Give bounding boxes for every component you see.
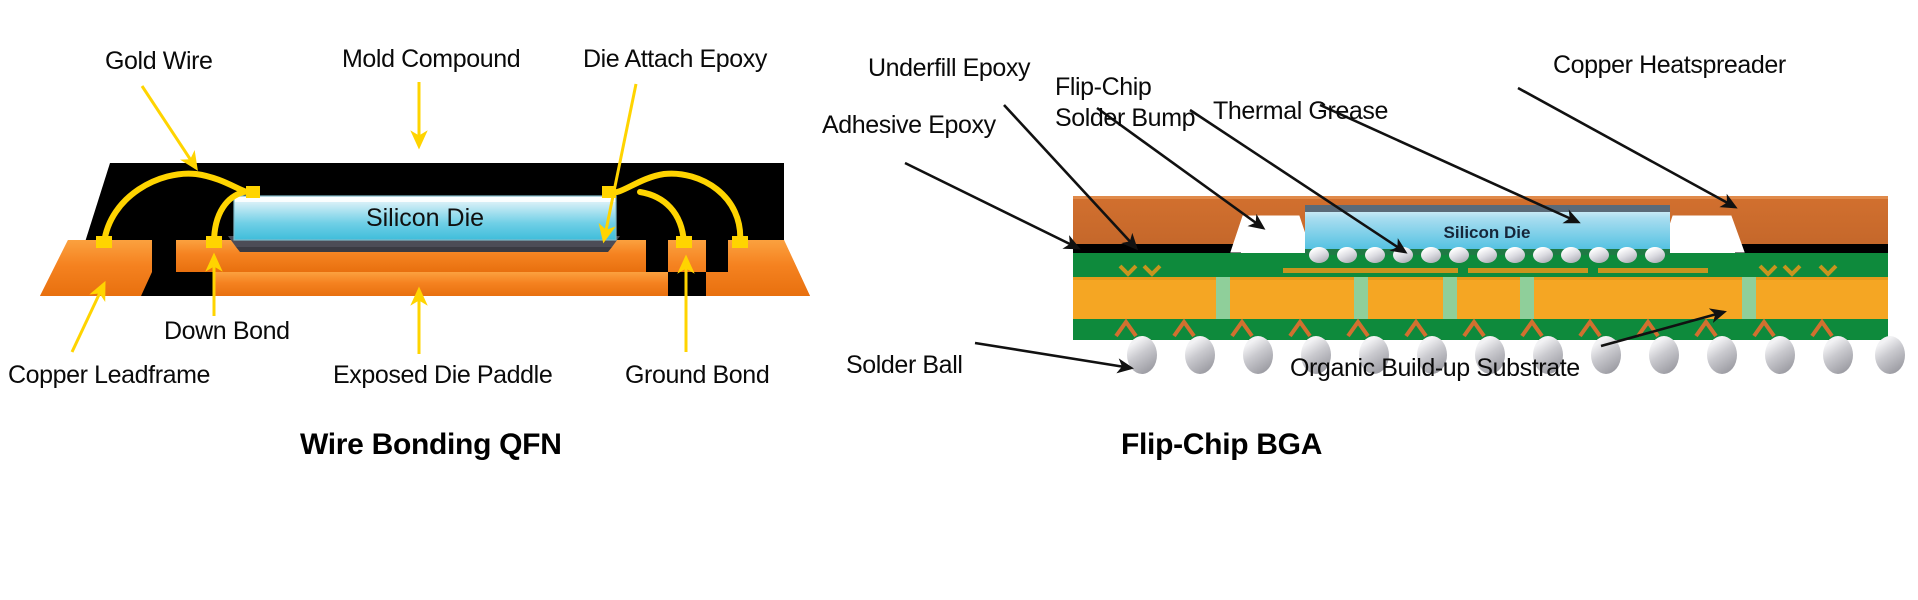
- organic-substrate-core: [1073, 277, 1888, 319]
- callout-organic-build-up-substrate: Organic Build-up Substrate: [1290, 355, 1580, 382]
- callout-gold-wire: Gold Wire: [105, 48, 213, 75]
- lead-left-outer: [40, 240, 152, 296]
- callout-exposed-die-paddle: Exposed Die Paddle: [333, 362, 552, 389]
- callout-down-bond: Down Bond: [164, 318, 290, 345]
- panel-title-bga: Flip-Chip BGA: [1121, 428, 1322, 462]
- callout-solder-ball: Solder Ball: [846, 352, 963, 379]
- solder-bump: [1589, 247, 1609, 263]
- substrate-via: [1443, 277, 1457, 319]
- callout-ground-bond: Ground Bond: [625, 362, 769, 389]
- solder-bump: [1561, 247, 1581, 263]
- solder-bump: [1505, 247, 1525, 263]
- solder-ball: [1765, 336, 1795, 374]
- solder-bump: [1421, 247, 1441, 263]
- bond-pad-lead-right: [732, 236, 748, 248]
- substrate-via: [1216, 277, 1230, 319]
- callout-adhesive-epoxy: Adhesive Epoxy: [822, 112, 996, 139]
- solder-ball: [1127, 336, 1157, 374]
- callout-underfill-epoxy: Underfill Epoxy: [868, 55, 1030, 82]
- substrate-via: [1354, 277, 1368, 319]
- adhesive-epoxy-left: [1073, 244, 1241, 253]
- solder-bump: [1533, 247, 1553, 263]
- leader-solder-ball: [975, 343, 1131, 368]
- silicon-die-qfn-label: Silicon Die: [366, 204, 484, 232]
- solder-ball: [1823, 336, 1853, 374]
- substrate-via: [1742, 277, 1756, 319]
- package-cross-section-figure: Silicon Die: [0, 0, 1918, 600]
- panel-title-qfn: Wire Bonding QFN: [300, 428, 562, 462]
- copper-heatspreader-edge: [1073, 196, 1888, 199]
- silicon-die-qfn-highlight: [234, 196, 616, 202]
- solder-ball: [1875, 336, 1905, 374]
- silicon-die-bga-label: Silicon Die: [1444, 223, 1531, 242]
- leader-gold-wire: [142, 86, 196, 168]
- die-paddle-front: [214, 272, 668, 296]
- callout-thermal-grease: Thermal Grease: [1213, 98, 1388, 125]
- organic-substrate-core-topline: [1073, 277, 1888, 280]
- bond-pad-die-left: [246, 186, 260, 198]
- solder-ball: [1243, 336, 1273, 374]
- callout-flip-chip-solder-bump-line1: Flip-Chip: [1055, 74, 1151, 101]
- callout-mold-compound: Mold Compound: [342, 46, 520, 73]
- callout-copper-heatspreader: Copper Heatspreader: [1553, 52, 1786, 79]
- solder-bump: [1449, 247, 1469, 263]
- solder-bump: [1337, 247, 1357, 263]
- thermal-grease-right: [1661, 216, 1744, 252]
- adhesive-epoxy-right: [1735, 244, 1888, 253]
- solder-ball: [1649, 336, 1679, 374]
- thermal-grease-left: [1231, 216, 1311, 252]
- substrate-via: [1520, 277, 1534, 319]
- die-attach-epoxy-shadow: [236, 247, 612, 252]
- callout-die-attach-epoxy: Die Attach Epoxy: [583, 46, 767, 73]
- solder-bump: [1477, 247, 1497, 263]
- qfn-package-graphic: Silicon Die: [40, 82, 810, 354]
- callout-copper-leadframe: Copper Leadframe: [8, 362, 210, 389]
- leader-copper-heatspreader: [1518, 88, 1735, 207]
- diagram-canvas: Silicon Die: [0, 0, 1918, 600]
- silicon-die-bga-top-edge: [1305, 205, 1670, 212]
- bond-pad-lead-left: [96, 236, 112, 248]
- solder-bump: [1365, 247, 1385, 263]
- ground-bond-pad: [676, 236, 692, 248]
- solder-ball: [1707, 336, 1737, 374]
- solder-bump: [1617, 247, 1637, 263]
- down-bond-pad: [206, 236, 222, 248]
- solder-ball: [1185, 336, 1215, 374]
- solder-bump: [1645, 247, 1665, 263]
- leader-adhesive-epoxy: [905, 163, 1078, 248]
- solder-bump: [1309, 247, 1329, 263]
- callout-flip-chip-solder-bump-line2: Solder Bump: [1055, 105, 1195, 132]
